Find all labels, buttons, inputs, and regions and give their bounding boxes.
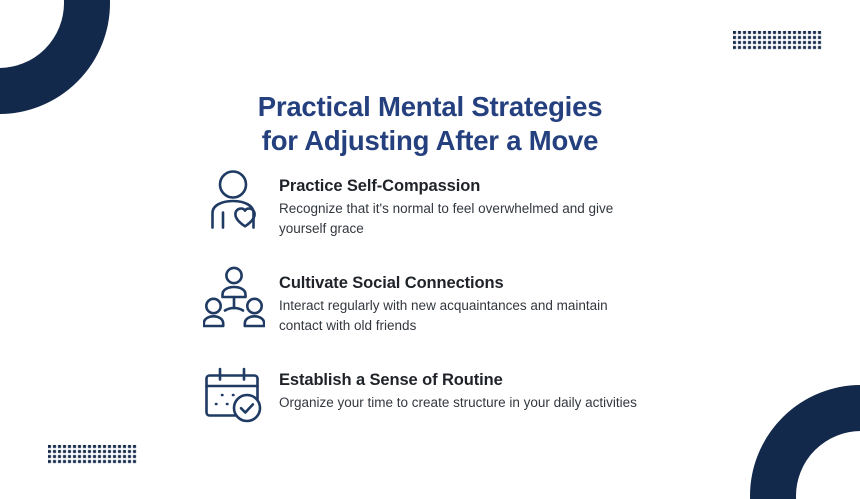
list-item-text: Cultivate Social Connections Interact re… [279, 265, 639, 336]
person-heart-icon [203, 168, 265, 234]
list-item: Practice Self-Compassion Recognize that … [203, 168, 673, 239]
page-title-line-2: for Adjusting After a Move [180, 124, 680, 158]
list-item-text: Practice Self-Compassion Recognize that … [279, 168, 639, 239]
list-item-title: Cultivate Social Connections [279, 273, 639, 293]
list-item-description: Interact regularly with new acquaintance… [279, 296, 639, 336]
decorative-dot-grid-bottom-left [48, 445, 138, 465]
list-item: Establish a Sense of Routine Organize yo… [203, 362, 673, 428]
list-item-title: Establish a Sense of Routine [279, 370, 637, 390]
list-item-text: Establish a Sense of Routine Organize yo… [279, 362, 637, 413]
decorative-ring-bottom-right [750, 385, 860, 499]
strategy-list: Practice Self-Compassion Recognize that … [203, 168, 673, 428]
calendar-check-icon [203, 362, 265, 428]
list-item-title: Practice Self-Compassion [279, 176, 639, 196]
list-item-description: Recognize that it's normal to feel overw… [279, 199, 639, 239]
page-title-line-1: Practical Mental Strategies [180, 90, 680, 124]
decorative-dot-grid-top-right [733, 31, 823, 51]
social-network-people-icon [203, 265, 265, 331]
list-item-description: Organize your time to create structure i… [279, 393, 637, 413]
list-item: Cultivate Social Connections Interact re… [203, 265, 673, 336]
infographic-canvas: Practical Mental Strategies for Adjustin… [0, 0, 860, 499]
page-title: Practical Mental Strategies for Adjustin… [180, 90, 680, 158]
decorative-ring-top-left [0, 0, 110, 114]
